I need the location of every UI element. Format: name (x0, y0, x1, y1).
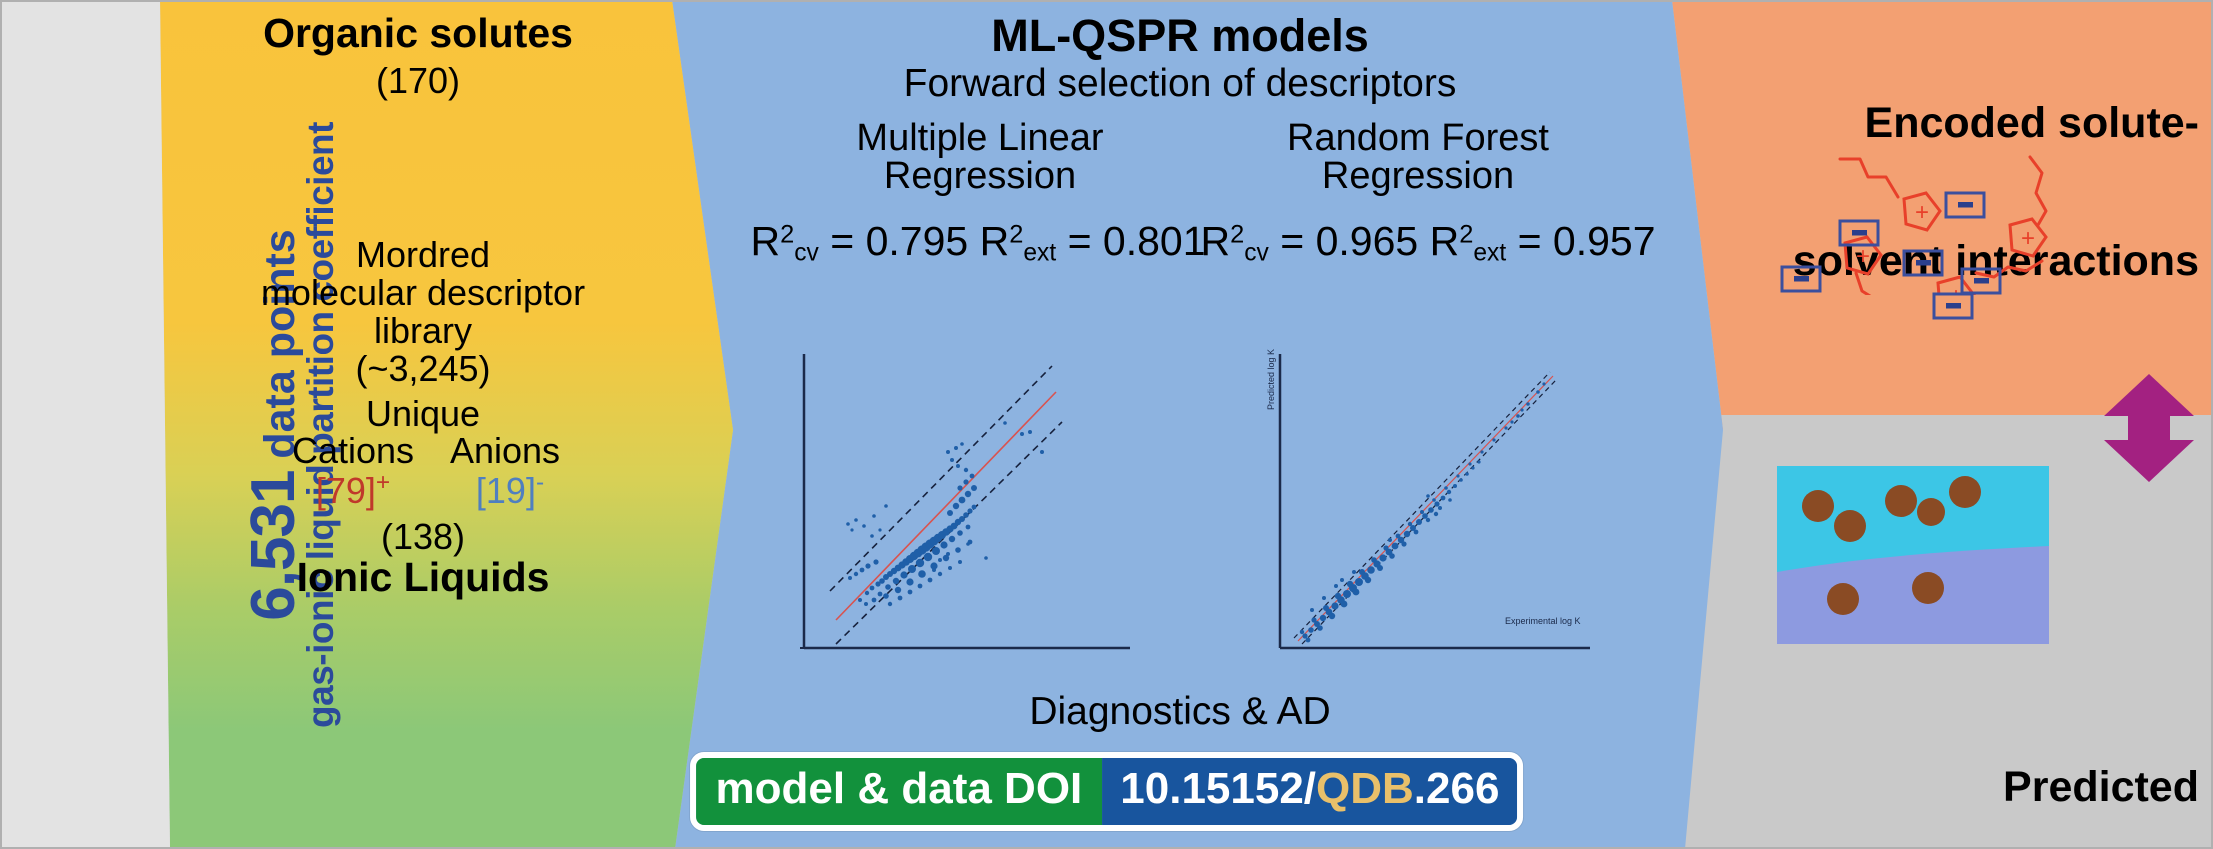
ionic-liquid-count: (138) (381, 518, 465, 555)
descriptor-line-1: Mordred (356, 236, 490, 273)
mlr-identity-line (836, 392, 1056, 620)
anion-box-6-wrapper (1930, 290, 1990, 330)
predicted-title-line1: Predicted (1963, 764, 2199, 810)
solute-particle-top-5 (1949, 476, 1981, 508)
mlr-r2cv-exponent: 2 (780, 220, 794, 248)
mlr-r2ext-subscript: ext (1023, 239, 1056, 266)
graphical-abstract: gas-ionic liquid partition coefficient 6… (0, 0, 2213, 849)
mlr-parity-plot (790, 348, 1140, 678)
rf-r2cv-subscript: cv (1244, 239, 1269, 266)
rf-r2ext-eq: = (1518, 218, 1553, 264)
rf-r2ext-symbol: R (1430, 218, 1460, 264)
doi-badge-value: 10.15152/QDB.266 (1102, 758, 1517, 825)
mlr-r2ext-exponent: 2 (1009, 220, 1023, 248)
mlr-r2cv-value: 0.795 (866, 218, 969, 264)
descriptor-count: (~3,245) (355, 350, 490, 387)
unique-label: Unique (366, 395, 480, 432)
rf-r2cv-eq: = (1280, 218, 1315, 264)
cation-plus-icon-1: + (1915, 199, 1929, 226)
sidebar-panel (0, 0, 170, 849)
descriptor-line-2: molecular descriptor (261, 274, 585, 311)
rf-r2cv-value: 0.965 (1316, 218, 1419, 264)
rf-r2ext-value: 0.957 (1553, 218, 1656, 264)
model-right-line2: Regression (1322, 156, 1514, 196)
cation-plus-icon-2: + (2021, 225, 2035, 252)
organic-solutes-title: Organic solutes (263, 10, 573, 57)
cations-count: [79]+ (316, 470, 390, 509)
rf-r2cv-symbol: R (1200, 218, 1230, 264)
mlr-r2ext-symbol: R (980, 218, 1010, 264)
anion-minus-icon-6 (1946, 303, 1961, 309)
mlr-stats-row: R2cv = 0.795 R2ext = 0.801 (750, 218, 1205, 267)
mlr-r2cv: R2cv = 0.795 (750, 218, 968, 264)
rf-r2ext-subscript: ext (1473, 239, 1506, 266)
rf-r2ext: R2ext = 0.957 (1430, 218, 1656, 264)
cations-count-value: [79] (316, 470, 376, 511)
partition-exchange-arrow (2094, 372, 2204, 484)
rf-r2ext-exponent: 2 (1459, 220, 1473, 248)
cation-group-1: + (1904, 193, 1940, 230)
model-right-line1: Random Forest (1287, 118, 1549, 158)
rf-stats-row: R2cv = 0.965 R2ext = 0.957 (1200, 218, 1655, 267)
anion-charge-sign: - (536, 469, 544, 496)
anion-box-1 (1946, 193, 1984, 217)
organic-solutes-count: (170) (376, 62, 460, 99)
solute-particle-top-2 (1834, 510, 1866, 542)
doi-badge-label: model & data DOI (696, 758, 1103, 825)
cation-group-2: + (2010, 219, 2046, 256)
cation-group-3: + (1845, 237, 1881, 274)
anion-box-3 (1904, 251, 1942, 275)
anion-boxes (1782, 193, 2000, 293)
cation-charge-sign: + (376, 469, 390, 496)
solute-particle-top-1 (1802, 490, 1834, 522)
mlr-r2ext-eq: = (1068, 218, 1103, 264)
solute-particle-bottom-2 (1912, 572, 1944, 604)
solute-particle-top-4 (1917, 498, 1945, 526)
diagnostics-label: Diagnostics & AD (1029, 690, 1330, 734)
anions-count: [19]- (476, 470, 544, 509)
model-left-line2: Regression (884, 156, 1076, 196)
anion-box-4 (1782, 267, 1820, 291)
predicted-partitioning-title: Predicted partitioning properties (1963, 672, 2199, 849)
two-phase-vessel (1775, 464, 2065, 654)
rf-x-axis-label: Experimental log K (1505, 616, 1581, 626)
rf-identity-line (1298, 376, 1553, 641)
ion-interaction-diagram: + + + + (1780, 125, 2110, 295)
solute-particle-top-3 (1885, 485, 1917, 517)
solute-particle-bottom-1 (1827, 583, 1859, 615)
mlr-r2cv-symbol: R (750, 218, 780, 264)
mlr-r2ext-value: 0.801 (1103, 218, 1206, 264)
anions-label: Anions (450, 432, 560, 469)
ml-qspr-title: ML-QSPR models (991, 10, 1369, 62)
doi-prefix: 10.15152/ (1120, 764, 1316, 814)
mlr-r2cv-subscript: cv (794, 239, 819, 266)
rf-r2cv-exponent: 2 (1230, 220, 1244, 248)
rf-y-axis-label: Predicted log K (1266, 349, 1276, 410)
mlr-r2ext: R2ext = 0.801 (980, 218, 1206, 264)
ionic-liquids-title: Ionic Liquids (297, 554, 550, 601)
descriptor-line-3: library (374, 312, 472, 349)
mlr-r2cv-eq: = (830, 218, 865, 264)
model-left-line1: Multiple Linear (856, 118, 1103, 158)
doi-badge[interactable]: model & data DOI 10.15152/QDB.266 (690, 752, 1524, 831)
doi-qdb: QDB (1316, 764, 1414, 814)
anions-count-value: [19] (476, 470, 536, 511)
cations-label: Cations (292, 432, 414, 469)
doi-suffix: .266 (1414, 764, 1500, 814)
ml-qspr-subtitle: Forward selection of descriptors (904, 62, 1457, 106)
rf-parity-plot: Predicted log K Experimental log K (1250, 348, 1600, 678)
rf-r2cv: R2cv = 0.965 (1200, 218, 1418, 264)
cation-plus-icon-3: + (1856, 243, 1870, 270)
double-headed-arrow-icon (2104, 374, 2194, 482)
